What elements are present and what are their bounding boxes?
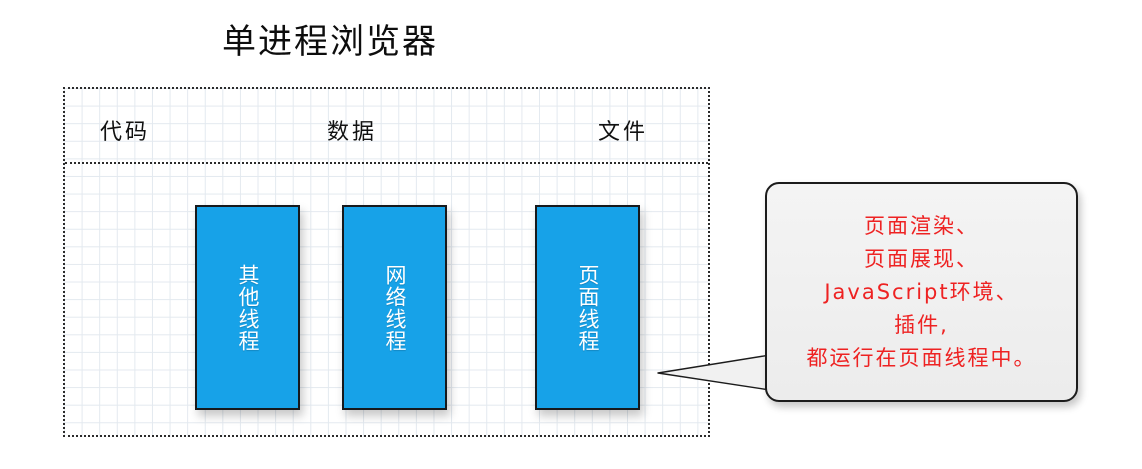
thread-box-other[interactable]: 其他线程 xyxy=(195,205,300,410)
callout-line-3: JavaScript环境、 xyxy=(824,276,1018,309)
thread-box-page[interactable]: 页面线程 xyxy=(535,205,640,410)
callout-line-4: 插件, xyxy=(894,309,949,342)
callout-line-1: 页面渲染、 xyxy=(864,210,979,243)
header-label-code: 代码 xyxy=(100,119,150,147)
callout-bubble: 页面渲染、 页面展现、 JavaScript环境、 插件, 都运行在页面线程中。 xyxy=(765,182,1078,402)
process-frame: 代码 数据 文件 其他线程 网络线程 页面线程 xyxy=(63,87,710,437)
thread-label-page: 页面线程 xyxy=(572,264,603,352)
thread-label-network: 网络线程 xyxy=(379,264,410,352)
header-label-data: 数据 xyxy=(327,119,377,147)
header-label-file: 文件 xyxy=(598,119,648,147)
callout-line-2: 页面展现、 xyxy=(864,243,979,276)
thread-box-network[interactable]: 网络线程 xyxy=(342,205,447,410)
callout-line-5: 都运行在页面线程中。 xyxy=(807,342,1037,375)
thread-label-other: 其他线程 xyxy=(232,264,263,352)
diagram-canvas: 单进程浏览器 代码 数据 文件 其他线程 网络线程 页面线程 页面渲染、 页面展… xyxy=(0,0,1142,469)
page-title: 单进程浏览器 xyxy=(0,20,660,64)
resource-header-band: 代码 数据 文件 xyxy=(65,89,708,164)
